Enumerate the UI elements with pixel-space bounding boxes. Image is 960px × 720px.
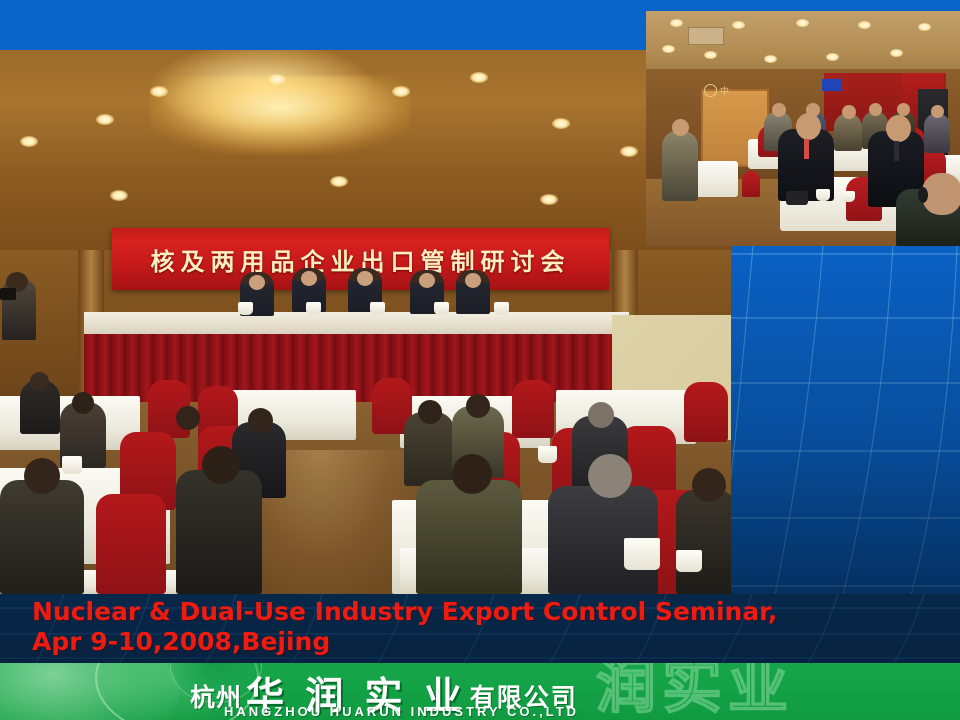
attendee-head [796,113,821,140]
title-band: Nuclear & Dual-Use Industry Export Contr… [0,594,960,663]
audience-chair [96,494,166,594]
wall-logo: 中 [704,83,764,97]
attendee-head [931,105,944,118]
ceiling-light [110,190,128,201]
teacup [494,302,509,315]
attendee-head [452,454,492,494]
main-conference-photo: 核及两用品企业出口管制研讨会 [0,50,731,594]
attendee [176,470,262,594]
ceiling-light [796,19,809,27]
ceiling-light [392,86,410,97]
attendee [416,480,522,594]
ceiling-light [552,118,570,129]
teacup [676,550,702,572]
attendee-head [176,406,200,430]
attendees-photo: 中 [646,11,960,246]
attendee-head [588,454,632,498]
ceiling-light [330,176,348,187]
attendee [924,113,950,153]
logo-circle-icon [704,84,717,97]
presentation-slide: 核及两用品企业出口管制研讨会 [0,0,960,720]
teacup [62,456,82,474]
teacup [538,446,557,463]
teacup [624,538,660,570]
title-line-1: Nuclear & Dual-Use Industry Export Contr… [32,597,777,627]
headset-icon [918,187,928,203]
ceiling-light [826,53,839,61]
attendee-head [24,458,60,494]
footer-watermark-text: 润实业 [596,663,794,717]
attendee [0,480,84,594]
ceiling-light [620,146,638,157]
attendee-head [692,468,726,502]
audience-chair [512,380,554,438]
attendee [676,490,731,594]
title-line-2: Apr 9-10,2008,Bejing [32,627,777,657]
wall-screen [822,79,842,91]
ceiling-light [540,194,558,205]
right-blue-panel [731,246,960,595]
teacup [816,189,830,201]
teacup [842,191,855,202]
wall-logo-text: 中 [720,84,729,97]
air-vent [688,27,724,45]
attendee-head [72,392,94,414]
slide-title: Nuclear & Dual-Use Industry Export Contr… [32,597,777,657]
attendee-head [588,402,614,428]
attendee [662,131,698,201]
attendee-head [418,400,442,424]
attendee-head [202,446,240,484]
attendee-head [869,103,882,116]
chair [742,171,760,197]
teacup [306,302,321,315]
ceiling-light [670,19,683,27]
top-blue-band [0,0,645,52]
ceiling-light [890,49,903,57]
attendee-head [886,115,911,142]
right-panel-shading [731,246,960,595]
chandelier [150,76,410,154]
attendee-head [30,372,49,391]
ceiling-light [268,74,286,85]
ceiling-light [918,23,931,31]
device [786,191,808,205]
ceiling-light [20,136,38,147]
audience-chair [684,382,728,442]
ceiling-light [858,21,871,29]
ceiling-light [764,55,777,63]
ceiling-light [704,51,717,59]
necktie [804,139,809,159]
teacup [238,302,253,315]
necktie [894,141,899,161]
attendee-head [466,394,490,418]
attendee-head [248,408,273,433]
attendee-head [842,105,856,119]
footer-logo-band: 润实业 杭州 华 润 实 业 有限公司 HANGZHOU HUARUN INDU… [0,663,960,720]
attendee-head [672,119,689,136]
panelist [456,270,490,314]
head-table-top [84,312,629,334]
company-name-english: HANGZHOU HUARUN INDUSTRY CO.,LTD [224,704,579,719]
attendee-head [772,103,786,117]
teacup [370,302,385,315]
ceiling-light [96,114,114,125]
ceiling-light [732,21,745,29]
teacup [434,302,449,315]
camera-icon [0,288,16,300]
ceiling-light [662,45,675,53]
ceiling-light [150,86,168,97]
ceiling-light [470,72,488,83]
